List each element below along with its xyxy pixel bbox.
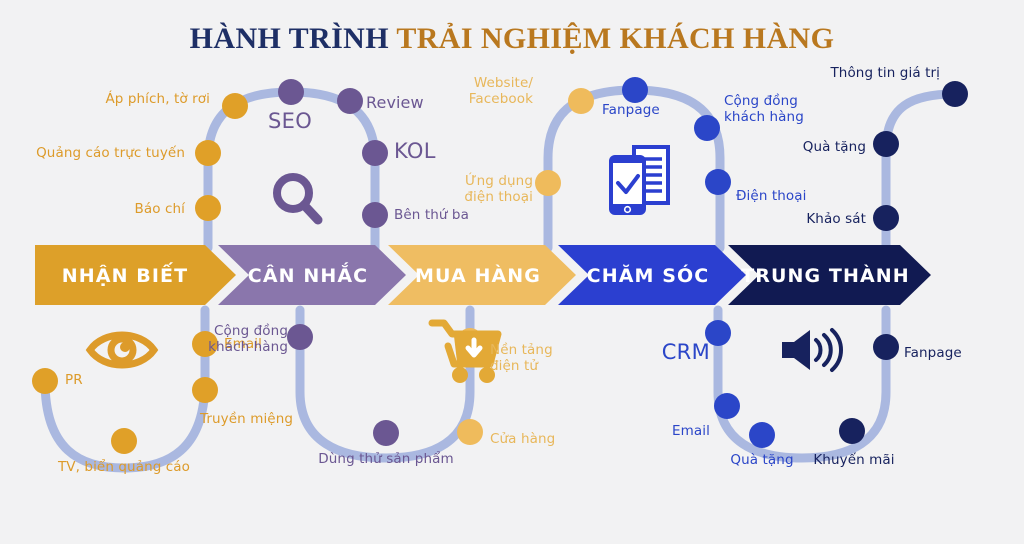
node-qua-tang-loyalty bbox=[873, 131, 899, 157]
stage-label-consideration: CÂN NHẮC bbox=[228, 265, 388, 287]
node-dien-thoai bbox=[705, 169, 731, 195]
node-thong-tin-gia-tri bbox=[942, 81, 968, 107]
label-crm: CRM bbox=[600, 341, 710, 364]
node-email-care bbox=[714, 393, 740, 419]
eye-icon bbox=[90, 335, 154, 365]
label-quang-cao-truc-tuyen: Quảng cáo trực tuyến bbox=[0, 146, 185, 162]
label-kol: KOL bbox=[394, 140, 436, 163]
search-icon bbox=[277, 177, 318, 220]
label-ap-phich-to-roi: Áp phích, tờ rơi bbox=[0, 92, 210, 108]
label-bao-chi: Báo chí bbox=[0, 202, 185, 218]
node-truyen-mieng bbox=[192, 377, 218, 403]
label-nen-tang-dien-tu: Nền tảng điện tử bbox=[490, 343, 585, 374]
stage-label-purchase: MUA HÀNG bbox=[398, 265, 558, 287]
node-cong-dong-khach-hang-consideration bbox=[287, 324, 313, 350]
label-khuyen-mai: Khuyến mãi bbox=[800, 453, 908, 469]
stage-label-loyalty: TRUNG THÀNH bbox=[738, 265, 913, 287]
phone-doc-icon bbox=[609, 147, 668, 215]
node-cua-hang bbox=[457, 419, 483, 445]
label-dung-thu-san-pham: Dùng thử sản phẩm bbox=[286, 452, 486, 468]
node-fanpage-care bbox=[622, 77, 648, 103]
node-dung-thu-san-pham bbox=[373, 420, 399, 446]
node-review bbox=[337, 88, 363, 114]
label-cong-dong-khach-hang-consideration: Cộng đồng khách hàng bbox=[188, 324, 288, 355]
node-pr bbox=[32, 368, 58, 394]
label-ung-dung-dien-thoai: Ứng dụng điện thoại bbox=[438, 174, 533, 205]
node-kol bbox=[362, 140, 388, 166]
label-fanpage-care: Fanpage bbox=[602, 103, 660, 119]
node-seo bbox=[278, 79, 304, 105]
cart-icon bbox=[432, 323, 498, 383]
node-khao-sat bbox=[873, 205, 899, 231]
label-thong-tin-gia-tri: Thông tin giá trị bbox=[812, 66, 940, 82]
label-fanpage-loyalty: Fanpage bbox=[904, 346, 962, 362]
stage-label-awareness: NHẬN BIẾT bbox=[35, 265, 215, 287]
node-ap-phich-to-roi bbox=[222, 93, 248, 119]
node-bao-chi bbox=[195, 195, 221, 221]
label-cua-hang: Cửa hàng bbox=[490, 432, 555, 448]
node-fanpage-loyalty bbox=[873, 334, 899, 360]
label-qua-tang-loyalty: Quà tặng bbox=[738, 140, 866, 156]
megaphone-icon bbox=[782, 330, 841, 370]
label-tv-bien-quang-cao: TV, biển quảng cáo bbox=[24, 460, 224, 476]
label-truyen-mieng: Truyền miệng bbox=[200, 412, 293, 428]
node-tv-bien-quang-cao bbox=[111, 428, 137, 454]
label-seo: SEO bbox=[268, 110, 312, 133]
node-qua-tang-care bbox=[749, 422, 775, 448]
stage-label-care: CHĂM SÓC bbox=[568, 265, 728, 287]
label-ben-thu-ba: Bên thứ ba bbox=[394, 208, 469, 224]
node-cong-dong-khach-hang-care bbox=[694, 115, 720, 141]
label-qua-tang-care: Quà tặng bbox=[710, 453, 814, 469]
label-website-facebook: Website/ Facebook bbox=[438, 76, 533, 107]
infographic-root: HÀNH TRÌNH TRẢI NGHIỆM KHÁCH HÀNG bbox=[0, 0, 1024, 544]
node-khuyen-mai bbox=[839, 418, 865, 444]
label-khao-sat: Khảo sát bbox=[738, 212, 866, 228]
label-cong-dong-khach-hang-care: Cộng đồng khách hàng bbox=[724, 94, 816, 125]
label-dien-thoai: Điện thoại bbox=[736, 189, 807, 205]
node-ung-dung-dien-thoai bbox=[535, 170, 561, 196]
node-quang-cao-truc-tuyen bbox=[195, 140, 221, 166]
node-website-facebook bbox=[568, 88, 594, 114]
node-ben-thu-ba bbox=[362, 202, 388, 228]
label-email-care: Email bbox=[600, 424, 710, 440]
label-pr: PR bbox=[65, 373, 83, 389]
label-review: Review bbox=[366, 95, 424, 111]
